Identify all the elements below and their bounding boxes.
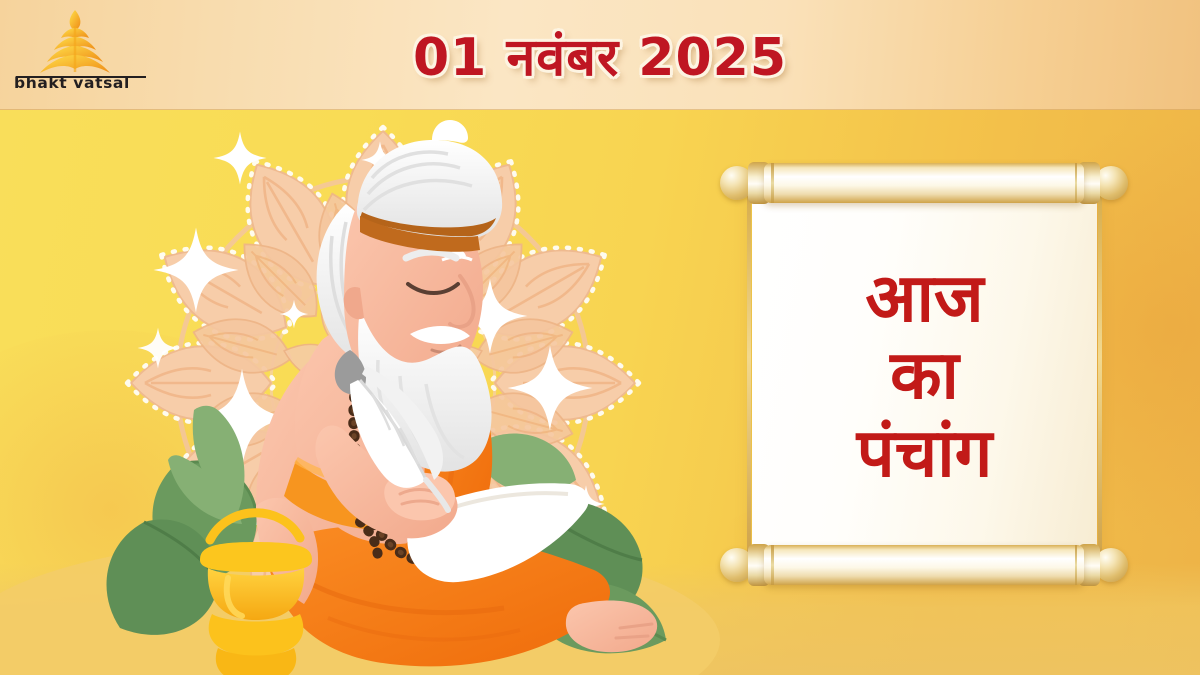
brand-logo[interactable]: bhakt vatsal (8, 2, 178, 108)
scroll-title: आज का पंचांग (752, 187, 1097, 565)
poster-canvas: आज का पंचांग 01 नवंबर 2025 (0, 0, 1200, 675)
page-title-date: 01 नवंबर 2025 (0, 0, 1200, 110)
wheat-flame-icon (30, 6, 120, 74)
header-bar: 01 नवंबर 2025 (0, 0, 1200, 110)
scroll-banner: आज का पंचांग (700, 152, 1170, 602)
kamandal-pot-icon (200, 513, 312, 675)
scroll-title-line-2: का (890, 338, 959, 413)
turban-icon (357, 120, 502, 252)
sage-illustration (60, 108, 700, 675)
brand-name: bhakt vatsal (14, 74, 164, 92)
scroll-title-line-3: पंचांग (857, 416, 993, 491)
scroll-title-line-1: आज (865, 261, 983, 336)
